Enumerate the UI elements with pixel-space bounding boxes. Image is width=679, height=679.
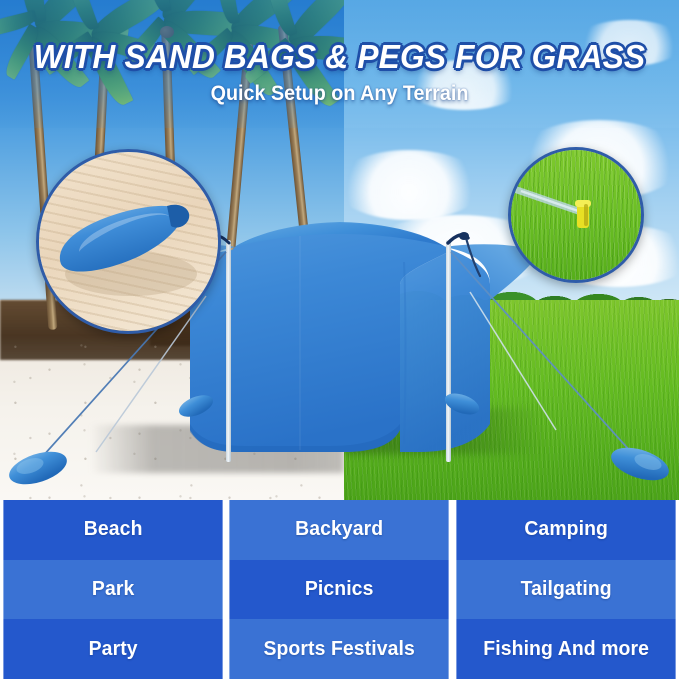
use-case-cell: Sports Festivals	[230, 619, 450, 679]
headline-text: WITH SAND BAGS & PEGS FOR GRASS	[14, 38, 666, 76]
use-case-cell: Picnics	[230, 560, 450, 620]
ground-peg-head	[575, 200, 591, 207]
canopy-shadow-on-grass	[344, 408, 544, 454]
ground-peg-shade	[584, 204, 588, 226]
use-case-cell: Park	[3, 560, 223, 620]
palm-frond	[215, 0, 239, 25]
use-case-cell: Camping	[456, 500, 676, 560]
use-case-label: Fishing And more	[483, 638, 649, 661]
use-case-label: Backyard	[295, 518, 383, 541]
use-case-cell: Backyard	[230, 500, 450, 560]
use-case-cell: Fishing And more	[456, 619, 676, 679]
use-case-label: Beach	[84, 518, 143, 541]
inset-sandbag-illustration	[39, 152, 218, 331]
subheadline-text: Quick Setup on Any Terrain	[20, 82, 658, 106]
grass-texture	[344, 300, 679, 500]
use-case-label: Picnics	[305, 578, 374, 601]
coconut-cluster	[160, 26, 174, 38]
canopy-shadow-on-sand	[90, 425, 344, 473]
inset-peg-in-grass	[508, 147, 644, 283]
use-case-cell: Beach	[3, 500, 223, 560]
use-case-label: Tailgating	[520, 578, 611, 601]
use-case-grid: BeachBackyardCampingParkPicnicsTailgatin…	[0, 500, 679, 679]
use-case-label: Camping	[524, 518, 608, 541]
use-case-cell: Tailgating	[456, 560, 676, 620]
inset-peg-illustration	[511, 150, 641, 280]
sand-texture	[0, 330, 344, 500]
use-case-label: Party	[89, 638, 138, 661]
inset-sandbag-on-sand	[36, 149, 221, 334]
use-case-cell: Party	[3, 619, 223, 679]
use-case-label: Park	[92, 578, 134, 601]
product-feature-image: WITH SAND BAGS & PEGS FOR GRASS Quick Se…	[0, 0, 679, 679]
inset-guyline-core	[521, 191, 581, 212]
use-case-label: Sports Festivals	[264, 638, 415, 661]
